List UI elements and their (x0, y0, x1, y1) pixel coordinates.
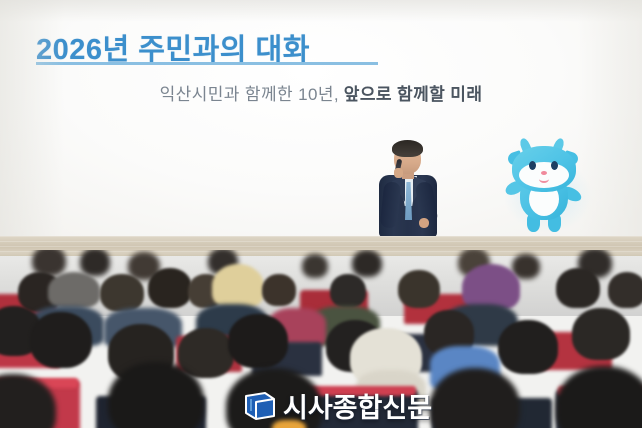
audience-head (556, 366, 642, 428)
speaker-hand-right (419, 218, 429, 228)
mascot-eye-right (551, 161, 558, 170)
audience-head (80, 250, 110, 276)
audience-head (572, 308, 630, 360)
audience-head (30, 312, 92, 368)
audience-head (228, 314, 288, 368)
mascot-eye-left (529, 161, 536, 170)
audience-head (262, 274, 296, 306)
watermark: 시사종합신문 (243, 386, 432, 425)
audience-head (498, 320, 558, 374)
screen-top-shading (0, 0, 642, 22)
audience-hat (48, 272, 100, 308)
audience-head (330, 274, 366, 308)
audience-head (556, 268, 600, 308)
slide-subtitle-normal: 익산시민과 함께한 10년, (160, 85, 339, 104)
audience-hat (212, 264, 264, 308)
slide-subtitle: 익산시민과 함께한 10년, 앞으로 함께할 미래 (0, 80, 642, 105)
open-book-icon (243, 391, 277, 421)
photograph-canvas: 2026년 주민과의 대화 익산시민과 함께한 10년, 앞으로 함께할 미래 (0, 0, 642, 428)
mascot-mouth (539, 175, 549, 183)
audience-head (148, 268, 192, 308)
audience-head (302, 254, 328, 278)
slide-subtitle-bold: 앞으로 함께할 미래 (344, 85, 483, 104)
watermark-text: 시사종합신문 (283, 386, 432, 425)
mascot-figure (498, 138, 596, 238)
audience-head (398, 270, 440, 308)
slide-title-underline (36, 62, 378, 65)
audience-head (108, 362, 204, 428)
audience-head (608, 272, 642, 308)
audience-head (352, 250, 382, 277)
audience-head (430, 368, 520, 428)
speaker-hand-left (394, 168, 403, 178)
audience-head (100, 274, 144, 312)
